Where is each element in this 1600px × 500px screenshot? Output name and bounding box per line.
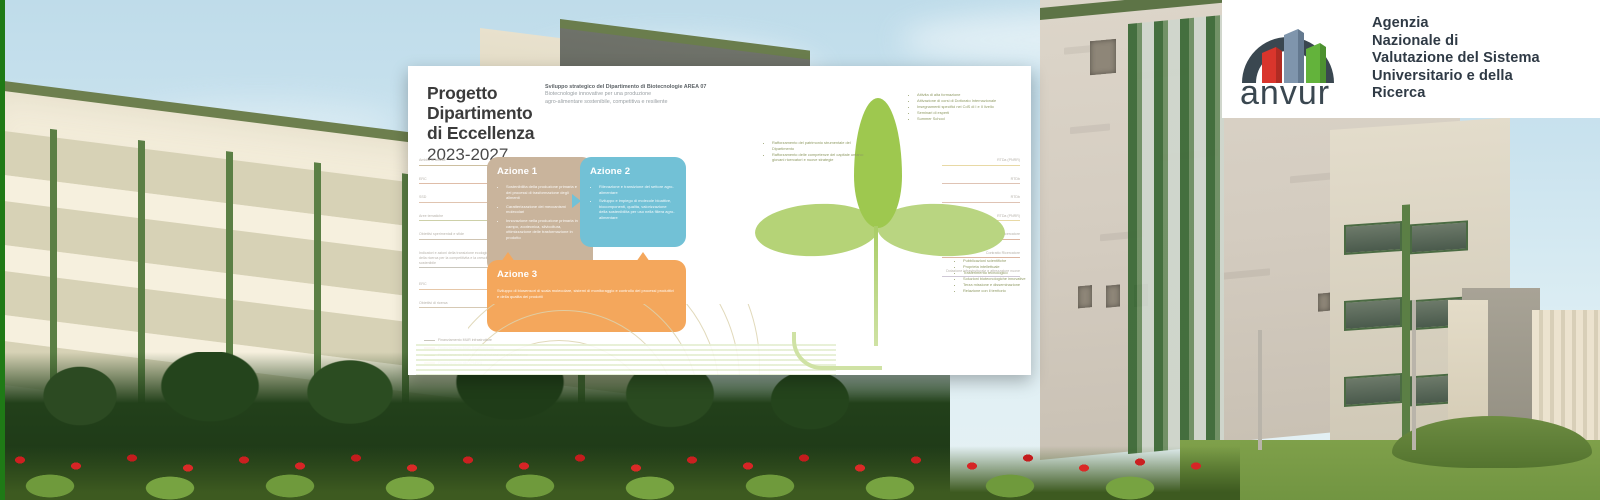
legend-label: Finanziamento MUR infrastrutture xyxy=(438,338,492,343)
small-window xyxy=(1090,39,1116,75)
small-window xyxy=(1106,284,1120,307)
action-box-2: Azione 2 Rilevazione e transizione del s… xyxy=(580,157,686,247)
outcome-item: Attivita di alta formazione xyxy=(917,92,1022,98)
outcome-item: Rafforzamento delle competenze del capit… xyxy=(772,152,865,163)
legend-swatch xyxy=(424,340,435,342)
outcome-item: Proprieta intellettuale xyxy=(963,264,1031,270)
action-3-title: Azione 3 xyxy=(497,269,676,280)
svg-text:anvur: anvur xyxy=(1240,74,1330,107)
lamp-post xyxy=(1258,330,1262,450)
rail-row: Ambito di attivita xyxy=(419,158,497,166)
green-curtain-wall xyxy=(1128,15,1224,454)
action-2-title: Azione 2 xyxy=(590,166,676,177)
banner-stage: Progetto Dipartimento di Eccellenza 2023… xyxy=(0,0,1600,500)
outcome-list: Rafforzamento del patrimonio strumentale… xyxy=(765,140,865,163)
ground-lines xyxy=(416,344,836,375)
anvur-logo-svg: anvur xyxy=(1236,11,1362,107)
outcome-item: Insegnamenti specifici nei CdS di I e II… xyxy=(917,104,1022,110)
anvur-title-line-2: Nazionale di xyxy=(1372,33,1540,51)
outcome-group-bottom-right: Pubblicazioni scientifiche Proprieta int… xyxy=(956,258,1031,295)
action-2-bullets: Rilevazione e transizione del settore ag… xyxy=(590,184,676,221)
outcome-group-mid-left: Rafforzamento del patrimonio strumentale… xyxy=(765,140,865,163)
callout-arrow-icon xyxy=(636,252,650,262)
outcome-item: Soluzioni biotecnologiche innovative xyxy=(963,276,1031,282)
callout-arrow-icon xyxy=(501,252,515,262)
outcome-item: Seminari di esperti xyxy=(917,110,1022,116)
rail-line xyxy=(419,183,497,184)
small-window xyxy=(1318,293,1330,312)
outcome-item: Terza missione e disseminazione xyxy=(963,282,1031,288)
poster-title-line-3: di Eccellenza xyxy=(427,123,577,143)
callout-arrow-icon xyxy=(572,194,581,208)
anvur-title-line-3: Valutazione del Sistema xyxy=(1372,50,1540,68)
outcome-list: Attivita di alta formazione Attivazione … xyxy=(910,92,1022,122)
anvur-logo-icon: anvur xyxy=(1236,11,1362,107)
window xyxy=(1410,220,1468,254)
rail-line xyxy=(419,267,497,268)
anvur-title-line-5: Ricerca xyxy=(1372,85,1540,103)
rail-row: ERC xyxy=(419,177,497,185)
small-window xyxy=(1078,285,1092,308)
outcome-item: Rafforzamento del patrimonio strumentale… xyxy=(772,140,865,151)
stem-curve xyxy=(792,332,882,370)
rail-line xyxy=(419,220,497,221)
left-edge-strip xyxy=(0,0,5,500)
mullion xyxy=(1402,204,1410,455)
project-poster: Progetto Dipartimento di Eccellenza 2023… xyxy=(408,66,1031,375)
rail-row: Indicatori e azioni della transizione ec… xyxy=(419,251,497,269)
action-2-bullet: Sviluppo e impiego di molecole bioattive… xyxy=(599,198,676,220)
outcome-item: Attivazione di corsi di Dottorato Intern… xyxy=(917,98,1022,104)
window xyxy=(1344,221,1402,255)
outcome-item: Relazione con il territorio xyxy=(963,288,1031,294)
lamp-post xyxy=(1412,300,1416,450)
rail-label: Indicatori e azioni della transizione ec… xyxy=(419,251,497,268)
window xyxy=(1344,297,1402,331)
action-1-bullets: Sostenibilita della produzione primaria … xyxy=(497,184,583,240)
anvur-logo-panel: anvur Agenzia Nazionale di Valutazione d… xyxy=(1222,0,1600,118)
rail-row: SSD xyxy=(419,195,497,203)
brick-shadow xyxy=(1220,268,1270,280)
action-2-bullet: Rilevazione e transizione del settore ag… xyxy=(599,184,676,195)
rail-row: ERC xyxy=(419,282,497,290)
rail-line xyxy=(419,202,497,203)
rail-row: Aree tematiche xyxy=(419,214,497,222)
anvur-title-line-1: Agenzia xyxy=(1372,15,1540,33)
outcome-list: Pubblicazioni scientifiche Proprieta int… xyxy=(956,258,1031,294)
rail-line xyxy=(419,165,497,166)
stem xyxy=(874,226,878,346)
outcome-item: Trasferimento tecnologico xyxy=(963,270,1031,276)
anvur-title-line-4: Universitario e della xyxy=(1372,68,1540,86)
rail-line xyxy=(419,239,497,240)
window xyxy=(1344,373,1402,407)
rail-row: Obiettivi sperimentali e sfide xyxy=(419,232,497,240)
outcome-item: Summer School xyxy=(917,116,1022,122)
outcome-item: Pubblicazioni scientifiche xyxy=(963,258,1031,264)
legend-row: Finanziamento MUR infrastrutture xyxy=(424,338,528,343)
outcome-group-top-right: Attivita di alta formazione Attivazione … xyxy=(910,92,1022,122)
action-1-bullet: Innovazione nella produzione primaria in… xyxy=(506,218,583,240)
anvur-title: Agenzia Nazionale di Valutazione del Sis… xyxy=(1372,15,1540,103)
rail-line xyxy=(419,289,497,290)
action-3-text: Sviluppo di biosensori di scala molecola… xyxy=(497,288,676,299)
action-1-title: Azione 1 xyxy=(497,166,583,177)
brick-shadow xyxy=(1070,123,1110,134)
flower-bed xyxy=(0,446,1240,500)
plant-graphic xyxy=(746,86,1026,375)
left-rail: Ambito di attivita ERC SSD Aree tematich… xyxy=(419,158,497,319)
